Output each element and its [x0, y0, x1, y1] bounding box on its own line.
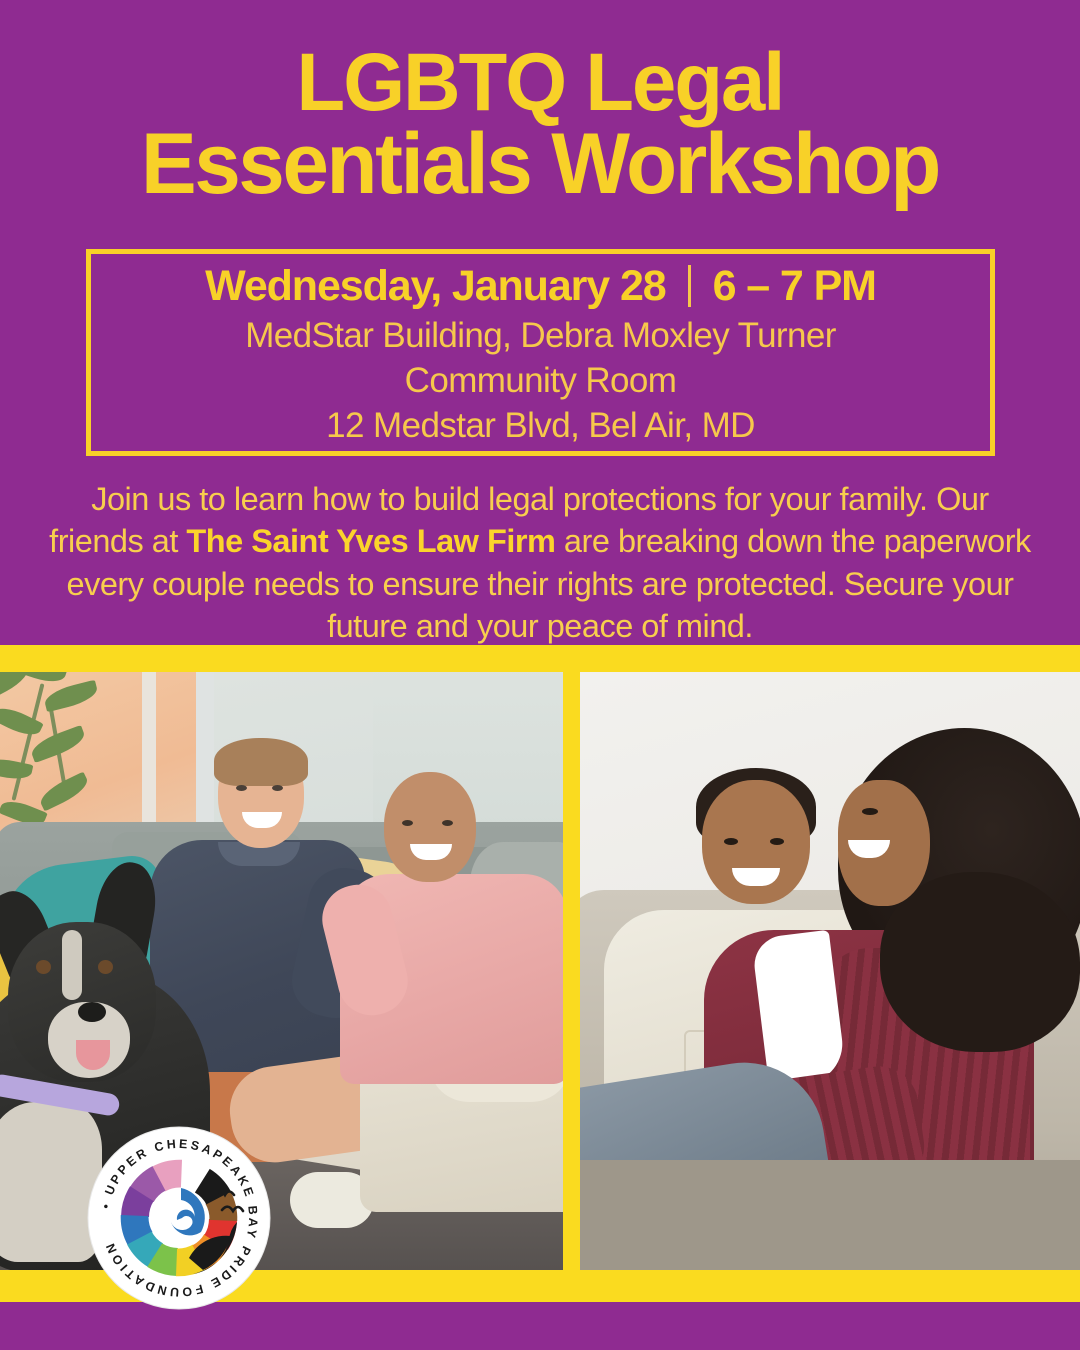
- venue-line-1: MedStar Building, Debra Moxley Turner: [245, 315, 836, 358]
- date-time-row: Wednesday, January 28 6 – 7 PM: [205, 263, 876, 309]
- poster-title: LGBTQ Legal Essentials Workshop: [0, 44, 1080, 205]
- organization-logo: • UPPER CHESAPEAKE BAY PRIDE FOUNDATION: [87, 1126, 271, 1310]
- man-1-eye-left: [236, 785, 247, 791]
- event-time: 6 – 7 PM: [713, 263, 876, 309]
- event-description: Join us to learn how to build legal prot…: [40, 478, 1040, 647]
- title-line-2: Essentials Workshop: [16, 123, 1064, 206]
- vertical-divider: [688, 265, 691, 307]
- man-2-eye-right: [442, 820, 453, 826]
- dog-eye-right: [98, 960, 113, 974]
- man-1-eye-right: [272, 785, 283, 791]
- event-details-box: Wednesday, January 28 6 – 7 PM MedStar B…: [86, 249, 995, 456]
- yellow-band-top: [0, 645, 1080, 672]
- woman-1-eye-right: [770, 838, 784, 845]
- woman-2-hair-lower: [880, 872, 1080, 1052]
- dog-blaze: [62, 930, 82, 1000]
- dog-eye-left: [36, 960, 51, 974]
- woman-1-eye-left: [724, 838, 738, 845]
- photo-gutter: [563, 645, 580, 1270]
- event-date: Wednesday, January 28: [205, 263, 665, 309]
- man-2-eye-left: [402, 820, 413, 826]
- couch-seat: [580, 1160, 1080, 1270]
- poster-canvas: LGBTQ Legal Essentials Workshop Wednesda…: [0, 0, 1080, 1350]
- woman-2-eye: [862, 808, 878, 815]
- dog-nose: [78, 1002, 106, 1022]
- event-address: 12 Medstar Blvd, Bel Air, MD: [326, 405, 755, 448]
- law-firm-name: The Saint Yves Law Firm: [186, 523, 555, 559]
- photo-two-men-with-dog: Two smiling men sitting on a living room…: [0, 672, 563, 1270]
- photo-two-women-on-couch: Two smiling women relaxing together on a…: [580, 672, 1080, 1270]
- man-2-head: [384, 772, 476, 882]
- title-line-1: LGBTQ Legal: [16, 44, 1064, 123]
- man-1-hair: [214, 738, 308, 786]
- venue-line-2: Community Room: [405, 360, 677, 403]
